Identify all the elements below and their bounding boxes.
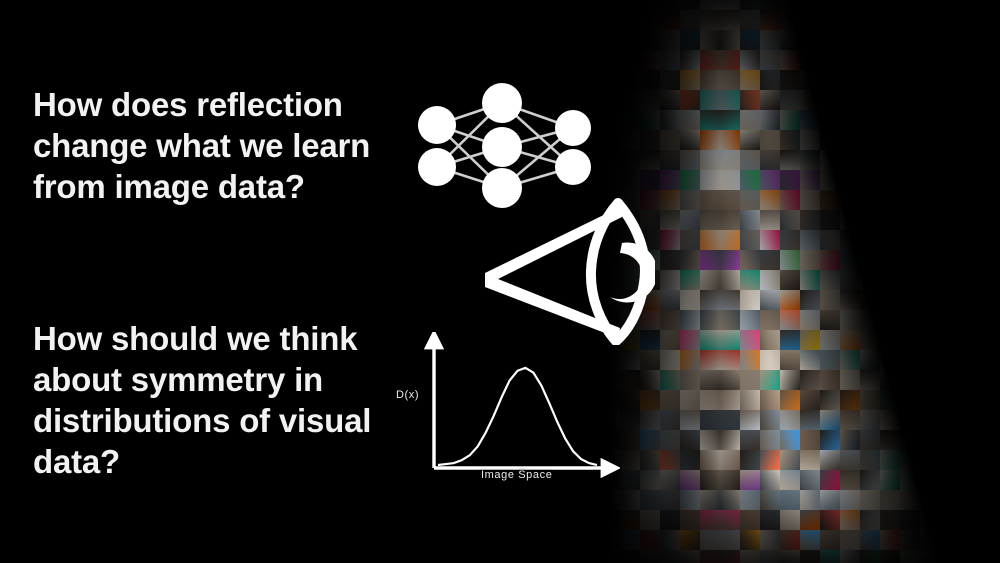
- mosaic-tile: [620, 490, 640, 510]
- mosaic-tile: [800, 230, 820, 250]
- mosaic-tile: [440, 290, 460, 310]
- mosaic-tile: [920, 450, 940, 470]
- mosaic-tile: [840, 170, 860, 190]
- mosaic-tile: [840, 130, 860, 150]
- mosaic-tile: [860, 550, 880, 563]
- mosaic-tile: [720, 470, 740, 490]
- mosaic-tile: [920, 490, 940, 510]
- mosaic-tile: [840, 210, 860, 230]
- mosaic-tile: [740, 330, 760, 350]
- mosaic-tile: [900, 510, 920, 530]
- mosaic-tile: [920, 90, 940, 110]
- mosaic-tile: [780, 510, 800, 530]
- mosaic-tile: [640, 70, 660, 90]
- mosaic-tile: [640, 510, 660, 530]
- mosaic-tile: [840, 250, 860, 270]
- mosaic-tile: [820, 230, 840, 250]
- eye-outline: [591, 203, 645, 341]
- nn-node-input-1: [418, 106, 456, 144]
- mosaic-tile: [880, 130, 900, 150]
- mosaic-tile: [960, 430, 980, 450]
- mosaic-tile: [720, 90, 740, 110]
- mosaic-tile: [860, 510, 880, 530]
- mosaic-tile: [800, 210, 820, 230]
- mosaic-tile: [840, 50, 860, 70]
- mosaic-tile: [780, 150, 800, 170]
- mosaic-tile: [540, 490, 560, 510]
- mosaic-tile: [640, 550, 660, 563]
- mosaic-tile: [760, 250, 780, 270]
- mosaic-tile: [580, 550, 600, 563]
- mosaic-tile: [760, 490, 780, 510]
- mosaic-tile: [780, 310, 800, 330]
- mosaic-tile: [540, 550, 560, 563]
- mosaic-tile: [660, 0, 680, 10]
- mosaic-tile: [640, 390, 660, 410]
- mosaic-tile: [620, 450, 640, 470]
- mosaic-tile: [960, 550, 980, 563]
- mosaic-tile: [960, 310, 980, 330]
- mosaic-tile: [660, 30, 680, 50]
- mosaic-tile: [820, 50, 840, 70]
- mosaic-tile: [700, 470, 720, 490]
- mosaic-tile: [880, 310, 900, 330]
- mosaic-tile: [800, 130, 820, 150]
- mosaic-tile: [780, 390, 800, 410]
- mosaic-tile: [880, 50, 900, 70]
- mosaic-tile: [540, 30, 560, 50]
- mosaic-tile: [840, 410, 860, 430]
- mosaic-tile: [980, 490, 1000, 510]
- mosaic-tile: [980, 290, 1000, 310]
- mosaic-tile: [780, 90, 800, 110]
- mosaic-tile: [760, 450, 780, 470]
- mosaic-tile: [880, 530, 900, 550]
- mosaic-tile: [680, 190, 700, 210]
- mosaic-tile: [880, 510, 900, 530]
- mosaic-tile: [680, 90, 700, 110]
- mosaic-tile: [720, 250, 740, 270]
- mosaic-tile: [440, 230, 460, 250]
- mosaic-tile: [520, 10, 540, 30]
- mosaic-tile: [760, 110, 780, 130]
- mosaic-tile: [640, 450, 660, 470]
- mosaic-tile: [960, 250, 980, 270]
- mosaic-tile: [800, 530, 820, 550]
- mosaic-tile: [700, 350, 720, 370]
- mosaic-tile: [660, 270, 680, 290]
- mosaic-tile: [720, 330, 740, 350]
- mosaic-tile: [840, 110, 860, 130]
- mosaic-tile: [920, 70, 940, 90]
- mosaic-tile: [720, 490, 740, 510]
- mosaic-tile: [840, 310, 860, 330]
- mosaic-tile: [860, 50, 880, 70]
- mosaic-tile: [780, 190, 800, 210]
- mosaic-tile: [720, 230, 740, 250]
- mosaic-tile: [740, 450, 760, 470]
- mosaic-tile: [940, 10, 960, 30]
- mosaic-tile: [820, 470, 840, 490]
- mosaic-tile: [800, 30, 820, 50]
- mosaic-tile: [900, 90, 920, 110]
- mosaic-tile: [800, 430, 820, 450]
- mosaic-tile: [760, 510, 780, 530]
- mosaic-tile: [980, 550, 1000, 563]
- mosaic-tile: [780, 230, 800, 250]
- mosaic-tile: [860, 530, 880, 550]
- mosaic-tile: [920, 430, 940, 450]
- mosaic-tile: [740, 230, 760, 250]
- mosaic-tile: [700, 330, 720, 350]
- mosaic-tile: [740, 410, 760, 430]
- mosaic-tile: [660, 250, 680, 270]
- mosaic-tile: [640, 150, 660, 170]
- mosaic-tile: [860, 30, 880, 50]
- mosaic-tile: [460, 510, 480, 530]
- mosaic-tile: [940, 90, 960, 110]
- mosaic-tile: [460, 0, 480, 10]
- mosaic-tile: [720, 130, 740, 150]
- mosaic-tile: [540, 0, 560, 10]
- mosaic-tile: [720, 30, 740, 50]
- mosaic-tile: [600, 10, 620, 30]
- eye-cone-icon: [470, 195, 655, 345]
- mosaic-tile: [780, 410, 800, 430]
- eye-pupil-ring: [610, 243, 655, 303]
- mosaic-tile: [820, 30, 840, 50]
- mosaic-tile: [740, 310, 760, 330]
- mosaic-tile: [800, 70, 820, 90]
- mosaic-tile: [800, 490, 820, 510]
- mosaic-tile: [740, 430, 760, 450]
- mosaic-tile: [760, 190, 780, 210]
- mosaic-tile: [620, 30, 640, 50]
- mosaic-tile: [760, 210, 780, 230]
- mosaic-tile: [900, 530, 920, 550]
- mosaic-tile: [920, 470, 940, 490]
- nn-node-hidden-1: [482, 83, 522, 123]
- mosaic-tile: [980, 510, 1000, 530]
- mosaic-tile: [700, 270, 720, 290]
- mosaic-tile: [460, 30, 480, 50]
- mosaic-tile: [920, 270, 940, 290]
- mosaic-tile: [780, 250, 800, 270]
- mosaic-tile: [860, 470, 880, 490]
- mosaic-tile: [740, 50, 760, 70]
- mosaic-tile: [660, 70, 680, 90]
- nn-nodes: [418, 83, 591, 208]
- mosaic-tile: [660, 430, 680, 450]
- mosaic-tile: [800, 0, 820, 10]
- mosaic-tile: [920, 10, 940, 30]
- mosaic-tile: [900, 170, 920, 190]
- mosaic-tile: [900, 110, 920, 130]
- mosaic-tile: [800, 150, 820, 170]
- mosaic-tile: [700, 250, 720, 270]
- mosaic-tile: [780, 470, 800, 490]
- mosaic-tile: [800, 10, 820, 30]
- mosaic-tile: [660, 310, 680, 330]
- mosaic-tile: [900, 370, 920, 390]
- slide-canvas: How does reflection change what we learn…: [0, 0, 1000, 563]
- mosaic-tile: [560, 490, 580, 510]
- mosaic-tile: [740, 510, 760, 530]
- mosaic-tile: [740, 250, 760, 270]
- mosaic-tile: [500, 30, 520, 50]
- mosaic-tile: [840, 90, 860, 110]
- mosaic-tile: [960, 0, 980, 10]
- mosaic-tile: [720, 110, 740, 130]
- mosaic-tile: [840, 330, 860, 350]
- mosaic-tile: [900, 50, 920, 70]
- mosaic-tile: [640, 410, 660, 430]
- mosaic-tile: [640, 0, 660, 10]
- mosaic-tile: [620, 410, 640, 430]
- mosaic-tile: [680, 10, 700, 30]
- mosaic-tile: [540, 50, 560, 70]
- mosaic-tile: [960, 150, 980, 170]
- mosaic-tile: [900, 250, 920, 270]
- mosaic-tile: [840, 390, 860, 410]
- mosaic-tile: [800, 50, 820, 70]
- mosaic-tile: [700, 130, 720, 150]
- mosaic-tile: [720, 290, 740, 310]
- mosaic-tile: [480, 550, 500, 563]
- mosaic-tile: [960, 90, 980, 110]
- mosaic-tile: [440, 550, 460, 563]
- mosaic-tile: [640, 470, 660, 490]
- mosaic-tile: [660, 130, 680, 150]
- mosaic-tile: [960, 350, 980, 370]
- mosaic-tile: [460, 530, 480, 550]
- mosaic-tile: [580, 510, 600, 530]
- mosaic-tile: [680, 350, 700, 370]
- question-text-symmetry: How should we think about symmetry in di…: [33, 318, 413, 482]
- mosaic-tile: [960, 10, 980, 30]
- mosaic-tile: [940, 70, 960, 90]
- mosaic-tile: [680, 270, 700, 290]
- mosaic-tile: [660, 370, 680, 390]
- mosaic-tile: [820, 150, 840, 170]
- mosaic-tile: [840, 30, 860, 50]
- mosaic-tile: [820, 190, 840, 210]
- mosaic-tile: [880, 390, 900, 410]
- mosaic-tile: [580, 530, 600, 550]
- mosaic-tile: [760, 130, 780, 150]
- mosaic-tile: [820, 350, 840, 370]
- mosaic-tile: [580, 50, 600, 70]
- mosaic-tile: [680, 170, 700, 190]
- mosaic-tile: [740, 390, 760, 410]
- mosaic-tile: [960, 530, 980, 550]
- mosaic-tile: [560, 10, 580, 30]
- mosaic-tile: [720, 530, 740, 550]
- mosaic-tile: [760, 550, 780, 563]
- mosaic-tile: [460, 550, 480, 563]
- mosaic-tile: [620, 90, 640, 110]
- mosaic-tile: [740, 0, 760, 10]
- question-text-reflection: How does reflection change what we learn…: [33, 84, 413, 207]
- mosaic-tile: [820, 210, 840, 230]
- mosaic-tile: [820, 10, 840, 30]
- mosaic-tile: [720, 370, 740, 390]
- mosaic-tile: [820, 290, 840, 310]
- mosaic-tile: [880, 370, 900, 390]
- mosaic-tile: [640, 110, 660, 130]
- mosaic-tile: [880, 0, 900, 10]
- mosaic-tile: [640, 30, 660, 50]
- mosaic-tile: [740, 90, 760, 110]
- mosaic-tile: [780, 270, 800, 290]
- mosaic-tile: [520, 30, 540, 50]
- mosaic-tile: [620, 430, 640, 450]
- mosaic-tile: [980, 270, 1000, 290]
- mosaic-tile: [620, 170, 640, 190]
- mosaic-tile: [780, 30, 800, 50]
- mosaic-tile: [520, 550, 540, 563]
- mosaic-tile: [620, 0, 640, 10]
- mosaic-tile: [880, 410, 900, 430]
- mosaic-tile: [600, 510, 620, 530]
- mosaic-tile: [700, 550, 720, 563]
- mosaic-tile: [940, 410, 960, 430]
- mosaic-tile: [800, 370, 820, 390]
- mosaic-tile: [840, 350, 860, 370]
- mosaic-tile: [520, 50, 540, 70]
- neural-network-icon: [410, 75, 610, 215]
- mosaic-tile: [660, 290, 680, 310]
- mosaic-tile: [860, 310, 880, 330]
- mosaic-tile: [860, 190, 880, 210]
- mosaic-tile: [960, 510, 980, 530]
- mosaic-tile: [860, 330, 880, 350]
- mosaic-tile: [600, 550, 620, 563]
- mosaic-tile: [760, 50, 780, 70]
- mosaic-tile: [680, 390, 700, 410]
- mosaic-tile: [940, 530, 960, 550]
- mosaic-tile: [460, 490, 480, 510]
- mosaic-tile: [960, 290, 980, 310]
- mosaic-tile: [860, 150, 880, 170]
- mosaic-tile: [720, 510, 740, 530]
- mosaic-tile: [660, 410, 680, 430]
- mosaic-tile: [940, 190, 960, 210]
- mosaic-tile: [860, 410, 880, 430]
- mosaic-tile: [980, 210, 1000, 230]
- mosaic-tile: [980, 30, 1000, 50]
- mosaic-tile: [960, 170, 980, 190]
- mosaic-tile: [780, 530, 800, 550]
- mosaic-tile: [620, 110, 640, 130]
- mosaic-tile: [680, 70, 700, 90]
- mosaic-tile: [900, 270, 920, 290]
- mosaic-tile: [820, 310, 840, 330]
- mosaic-tile: [720, 550, 740, 563]
- mosaic-tile: [920, 170, 940, 190]
- mosaic-tile: [560, 50, 580, 70]
- mosaic-tile: [820, 430, 840, 450]
- mosaic-tile: [660, 350, 680, 370]
- mosaic-tile: [920, 210, 940, 230]
- nn-node-output-2: [555, 149, 591, 185]
- mosaic-tile: [620, 510, 640, 530]
- mosaic-tile: [940, 310, 960, 330]
- mosaic-tile: [940, 130, 960, 150]
- mosaic-tile: [960, 110, 980, 130]
- mosaic-tile: [920, 230, 940, 250]
- mosaic-tile: [440, 530, 460, 550]
- mosaic-tile: [760, 310, 780, 330]
- mosaic-tile: [580, 490, 600, 510]
- mosaic-tile: [920, 510, 940, 530]
- mosaic-tile: [620, 70, 640, 90]
- mosaic-tile: [700, 30, 720, 50]
- mosaic-tile: [560, 550, 580, 563]
- mosaic-tile: [700, 70, 720, 90]
- mosaic-tile: [700, 230, 720, 250]
- mosaic-tile: [720, 350, 740, 370]
- mosaic-tile: [880, 150, 900, 170]
- mosaic-tile: [640, 130, 660, 150]
- mosaic-tile: [980, 0, 1000, 10]
- mosaic-tile: [680, 30, 700, 50]
- mosaic-tile: [860, 270, 880, 290]
- mosaic-tile: [660, 150, 680, 170]
- mosaic-tile: [960, 410, 980, 430]
- mosaic-tile: [800, 270, 820, 290]
- mosaic-tile: [680, 310, 700, 330]
- mosaic-tile: [860, 290, 880, 310]
- mosaic-tile: [680, 530, 700, 550]
- mosaic-tile: [780, 110, 800, 130]
- mosaic-tile: [880, 90, 900, 110]
- mosaic-tile: [960, 450, 980, 470]
- mosaic-tile: [900, 410, 920, 430]
- mosaic-tile: [840, 270, 860, 290]
- mosaic-tile: [720, 210, 740, 230]
- mosaic-tile: [440, 270, 460, 290]
- mosaic-tile: [620, 530, 640, 550]
- mosaic-tile: [900, 310, 920, 330]
- mosaic-tile: [800, 450, 820, 470]
- mosaic-tile: [740, 110, 760, 130]
- nn-node-input-2: [418, 148, 456, 186]
- mosaic-tile: [820, 90, 840, 110]
- mosaic-tile: [720, 190, 740, 210]
- mosaic-tile: [580, 0, 600, 10]
- mosaic-tile: [820, 110, 840, 130]
- mosaic-tile: [460, 50, 480, 70]
- mosaic-tile: [980, 450, 1000, 470]
- mosaic-tile: [440, 510, 460, 530]
- mosaic-tile: [820, 250, 840, 270]
- mosaic-tile: [800, 190, 820, 210]
- mosaic-tile: [660, 170, 680, 190]
- mosaic-tile: [680, 210, 700, 230]
- mosaic-tile: [780, 0, 800, 10]
- mosaic-tile: [620, 10, 640, 30]
- mosaic-tile: [860, 70, 880, 90]
- mosaic-tile: [720, 70, 740, 90]
- mosaic-tile: [660, 90, 680, 110]
- mosaic-tile: [840, 370, 860, 390]
- mosaic-tile: [840, 510, 860, 530]
- mosaic-tile: [920, 350, 940, 370]
- mosaic-tile: [980, 330, 1000, 350]
- mosaic-tile: [900, 290, 920, 310]
- mosaic-tile: [780, 430, 800, 450]
